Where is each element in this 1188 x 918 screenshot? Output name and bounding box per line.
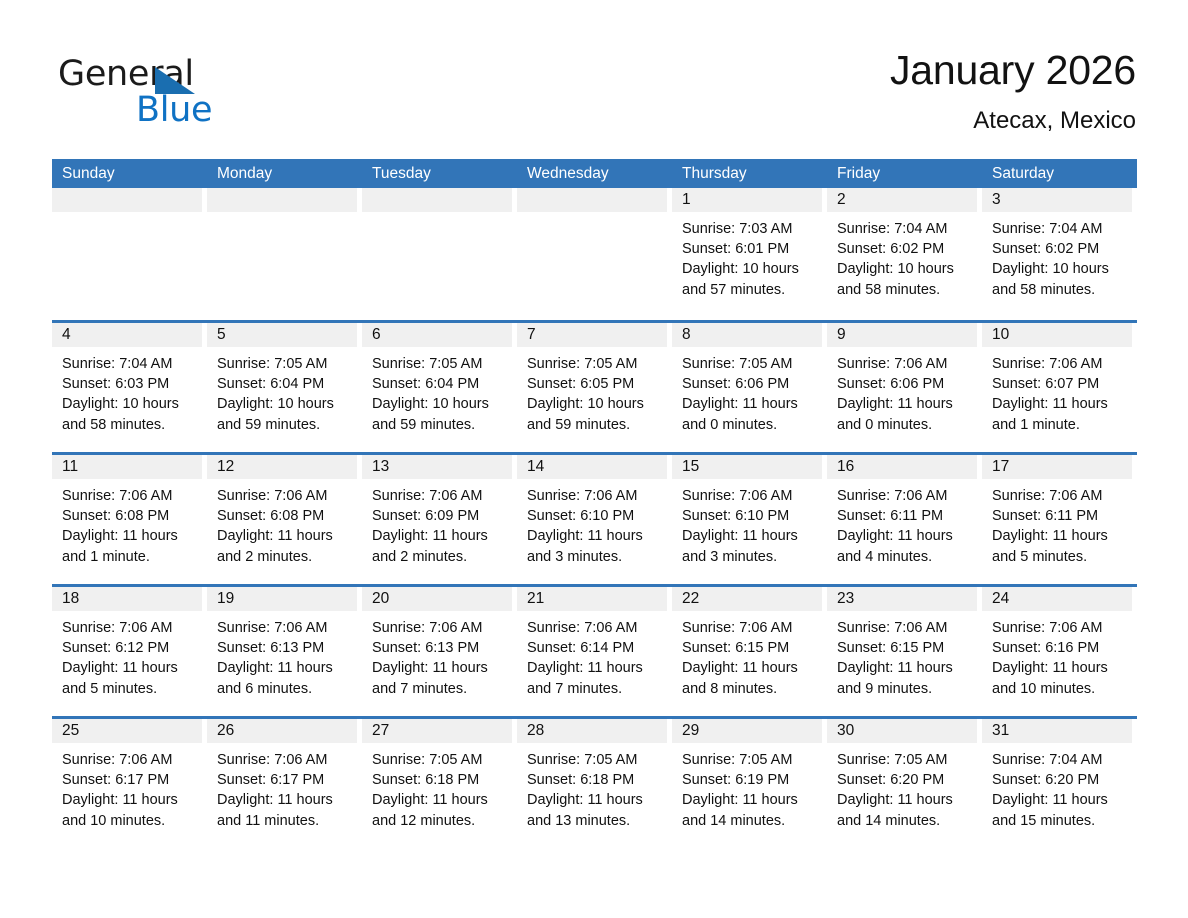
day-details: Sunrise: 7:06 AM Sunset: 6:13 PM Dayligh… (207, 611, 357, 699)
day-number (362, 188, 512, 212)
sunrise-text: Sunrise: 7:06 AM (62, 750, 198, 770)
day-details: Sunrise: 7:04 AM Sunset: 6:20 PM Dayligh… (982, 743, 1132, 831)
daylight-text-line1: Daylight: 11 hours (527, 658, 663, 678)
daylight-text-line1: Daylight: 11 hours (992, 394, 1128, 414)
sunset-text: Sunset: 6:16 PM (992, 638, 1128, 658)
calendar-page: General Blue January 2026 Atecax, Mexico… (0, 0, 1188, 918)
generalblue-logo: General Blue (58, 54, 268, 132)
title-block: January 2026 Atecax, Mexico (890, 44, 1136, 138)
day-cell[interactable]: 27 Sunrise: 7:05 AM Sunset: 6:18 PM Dayl… (362, 719, 517, 848)
day-details: Sunrise: 7:05 AM Sunset: 6:18 PM Dayligh… (362, 743, 512, 831)
daylight-text-line2: and 14 minutes. (837, 811, 973, 831)
sunrise-text: Sunrise: 7:05 AM (527, 750, 663, 770)
day-number: 1 (672, 188, 822, 212)
daylight-text-line2: and 10 minutes. (992, 679, 1128, 699)
day-cell[interactable]: 5 Sunrise: 7:05 AM Sunset: 6:04 PM Dayli… (207, 323, 362, 452)
sunrise-text: Sunrise: 7:04 AM (837, 219, 973, 239)
day-cell[interactable]: 14 Sunrise: 7:06 AM Sunset: 6:10 PM Dayl… (517, 455, 672, 584)
day-number: 16 (827, 455, 977, 479)
day-number (517, 188, 667, 212)
daylight-text-line1: Daylight: 10 hours (837, 259, 973, 279)
logo-text-blue: Blue (136, 90, 212, 130)
daylight-text-line2: and 14 minutes. (682, 811, 818, 831)
day-cell[interactable]: 30 Sunrise: 7:05 AM Sunset: 6:20 PM Dayl… (827, 719, 982, 848)
day-cell[interactable] (362, 188, 517, 320)
day-details: Sunrise: 7:06 AM Sunset: 6:15 PM Dayligh… (672, 611, 822, 699)
sunrise-text: Sunrise: 7:05 AM (682, 354, 818, 374)
daylight-text-line2: and 7 minutes. (527, 679, 663, 699)
day-number: 20 (362, 587, 512, 611)
day-details: Sunrise: 7:06 AM Sunset: 6:09 PM Dayligh… (362, 479, 512, 567)
day-cell[interactable]: 29 Sunrise: 7:05 AM Sunset: 6:19 PM Dayl… (672, 719, 827, 848)
daylight-text-line1: Daylight: 11 hours (682, 790, 818, 810)
sunset-text: Sunset: 6:09 PM (372, 506, 508, 526)
day-number: 30 (827, 719, 977, 743)
sunset-text: Sunset: 6:06 PM (682, 374, 818, 394)
day-details: Sunrise: 7:06 AM Sunset: 6:14 PM Dayligh… (517, 611, 667, 699)
day-details: Sunrise: 7:03 AM Sunset: 6:01 PM Dayligh… (672, 212, 822, 300)
day-number: 23 (827, 587, 977, 611)
day-details: Sunrise: 7:05 AM Sunset: 6:18 PM Dayligh… (517, 743, 667, 831)
day-cell[interactable] (207, 188, 362, 320)
daylight-text-line2: and 15 minutes. (992, 811, 1128, 831)
day-details: Sunrise: 7:06 AM Sunset: 6:11 PM Dayligh… (827, 479, 977, 567)
sunrise-text: Sunrise: 7:06 AM (682, 618, 818, 638)
day-number: 10 (982, 323, 1132, 347)
day-number: 13 (362, 455, 512, 479)
sunrise-text: Sunrise: 7:06 AM (837, 486, 973, 506)
sunrise-text: Sunrise: 7:06 AM (372, 486, 508, 506)
day-cell[interactable]: 16 Sunrise: 7:06 AM Sunset: 6:11 PM Dayl… (827, 455, 982, 584)
daylight-text-line2: and 6 minutes. (217, 679, 353, 699)
sunrise-text: Sunrise: 7:06 AM (682, 486, 818, 506)
sunset-text: Sunset: 6:15 PM (682, 638, 818, 658)
day-number: 5 (207, 323, 357, 347)
weekday-header-thursday: Thursday (672, 159, 827, 188)
sunset-text: Sunset: 6:13 PM (372, 638, 508, 658)
weekday-header-sunday: Sunday (52, 159, 207, 188)
day-cell[interactable]: 8 Sunrise: 7:05 AM Sunset: 6:06 PM Dayli… (672, 323, 827, 452)
sunrise-text: Sunrise: 7:05 AM (682, 750, 818, 770)
day-cell[interactable]: 18 Sunrise: 7:06 AM Sunset: 6:12 PM Dayl… (52, 587, 207, 716)
weekday-header-monday: Monday (207, 159, 362, 188)
sunset-text: Sunset: 6:17 PM (62, 770, 198, 790)
weekday-header-friday: Friday (827, 159, 982, 188)
sunset-text: Sunset: 6:12 PM (62, 638, 198, 658)
daylight-text-line2: and 13 minutes. (527, 811, 663, 831)
day-details: Sunrise: 7:06 AM Sunset: 6:17 PM Dayligh… (207, 743, 357, 831)
sunset-text: Sunset: 6:02 PM (837, 239, 973, 259)
day-details: Sunrise: 7:05 AM Sunset: 6:20 PM Dayligh… (827, 743, 977, 831)
week-row: 1 Sunrise: 7:03 AM Sunset: 6:01 PM Dayli… (52, 188, 1137, 320)
daylight-text-line2: and 9 minutes. (837, 679, 973, 699)
sunset-text: Sunset: 6:14 PM (527, 638, 663, 658)
day-cell[interactable]: 3 Sunrise: 7:04 AM Sunset: 6:02 PM Dayli… (982, 188, 1137, 320)
day-cell[interactable]: 19 Sunrise: 7:06 AM Sunset: 6:13 PM Dayl… (207, 587, 362, 716)
calendar-grid: Sunday Monday Tuesday Wednesday Thursday… (52, 159, 1137, 848)
daylight-text-line1: Daylight: 11 hours (217, 658, 353, 678)
weekday-header-saturday: Saturday (982, 159, 1137, 188)
day-cell[interactable]: 2 Sunrise: 7:04 AM Sunset: 6:02 PM Dayli… (827, 188, 982, 320)
daylight-text-line1: Daylight: 11 hours (837, 394, 973, 414)
day-number: 4 (52, 323, 202, 347)
daylight-text-line2: and 5 minutes. (992, 547, 1128, 567)
day-number: 12 (207, 455, 357, 479)
daylight-text-line1: Daylight: 11 hours (217, 526, 353, 546)
sunrise-text: Sunrise: 7:06 AM (992, 618, 1128, 638)
daylight-text-line1: Daylight: 10 hours (217, 394, 353, 414)
sunset-text: Sunset: 6:07 PM (992, 374, 1128, 394)
day-cell[interactable]: 17 Sunrise: 7:06 AM Sunset: 6:11 PM Dayl… (982, 455, 1137, 584)
daylight-text-line2: and 2 minutes. (372, 547, 508, 567)
sunset-text: Sunset: 6:19 PM (682, 770, 818, 790)
day-number: 15 (672, 455, 822, 479)
day-number: 11 (52, 455, 202, 479)
week-row: 18 Sunrise: 7:06 AM Sunset: 6:12 PM Dayl… (52, 584, 1137, 716)
day-number: 17 (982, 455, 1132, 479)
daylight-text-line1: Daylight: 10 hours (372, 394, 508, 414)
sunrise-text: Sunrise: 7:06 AM (992, 486, 1128, 506)
daylight-text-line2: and 3 minutes. (682, 547, 818, 567)
day-cell[interactable]: 15 Sunrise: 7:06 AM Sunset: 6:10 PM Dayl… (672, 455, 827, 584)
daylight-text-line2: and 57 minutes. (682, 280, 818, 300)
day-cell[interactable]: 13 Sunrise: 7:06 AM Sunset: 6:09 PM Dayl… (362, 455, 517, 584)
weekday-header-tuesday: Tuesday (362, 159, 517, 188)
day-details: Sunrise: 7:06 AM Sunset: 6:15 PM Dayligh… (827, 611, 977, 699)
day-number: 14 (517, 455, 667, 479)
daylight-text-line2: and 8 minutes. (682, 679, 818, 699)
day-number: 7 (517, 323, 667, 347)
day-cell[interactable]: 26 Sunrise: 7:06 AM Sunset: 6:17 PM Dayl… (207, 719, 362, 848)
day-cell[interactable]: 23 Sunrise: 7:06 AM Sunset: 6:15 PM Dayl… (827, 587, 982, 716)
daylight-text-line1: Daylight: 11 hours (992, 790, 1128, 810)
sunrise-text: Sunrise: 7:05 AM (372, 354, 508, 374)
day-details: Sunrise: 7:06 AM Sunset: 6:13 PM Dayligh… (362, 611, 512, 699)
day-details: Sunrise: 7:05 AM Sunset: 6:19 PM Dayligh… (672, 743, 822, 831)
daylight-text-line2: and 2 minutes. (217, 547, 353, 567)
day-cell[interactable]: 12 Sunrise: 7:06 AM Sunset: 6:08 PM Dayl… (207, 455, 362, 584)
sunrise-text: Sunrise: 7:06 AM (217, 750, 353, 770)
day-cell[interactable]: 21 Sunrise: 7:06 AM Sunset: 6:14 PM Dayl… (517, 587, 672, 716)
day-details: Sunrise: 7:06 AM Sunset: 6:07 PM Dayligh… (982, 347, 1132, 435)
sunset-text: Sunset: 6:20 PM (992, 770, 1128, 790)
day-details: Sunrise: 7:06 AM Sunset: 6:08 PM Dayligh… (207, 479, 357, 567)
sunrise-text: Sunrise: 7:04 AM (992, 219, 1128, 239)
day-number (52, 188, 202, 212)
sunrise-text: Sunrise: 7:06 AM (217, 486, 353, 506)
daylight-text-line1: Daylight: 11 hours (837, 526, 973, 546)
daylight-text-line1: Daylight: 11 hours (682, 526, 818, 546)
daylight-text-line1: Daylight: 11 hours (992, 658, 1128, 678)
day-details: Sunrise: 7:05 AM Sunset: 6:06 PM Dayligh… (672, 347, 822, 435)
daylight-text-line1: Daylight: 11 hours (217, 790, 353, 810)
daylight-text-line1: Daylight: 10 hours (62, 394, 198, 414)
day-number: 27 (362, 719, 512, 743)
daylight-text-line1: Daylight: 11 hours (62, 526, 198, 546)
daylight-text-line2: and 58 minutes. (62, 415, 198, 435)
sunset-text: Sunset: 6:01 PM (682, 239, 818, 259)
day-number: 2 (827, 188, 977, 212)
sunrise-text: Sunrise: 7:06 AM (992, 354, 1128, 374)
day-cell[interactable]: 25 Sunrise: 7:06 AM Sunset: 6:17 PM Dayl… (52, 719, 207, 848)
day-number: 24 (982, 587, 1132, 611)
sunset-text: Sunset: 6:18 PM (372, 770, 508, 790)
sunset-text: Sunset: 6:06 PM (837, 374, 973, 394)
daylight-text-line2: and 59 minutes. (217, 415, 353, 435)
day-number: 21 (517, 587, 667, 611)
day-number: 6 (362, 323, 512, 347)
day-details: Sunrise: 7:04 AM Sunset: 6:03 PM Dayligh… (52, 347, 202, 435)
sunset-text: Sunset: 6:11 PM (837, 506, 973, 526)
daylight-text-line1: Daylight: 11 hours (992, 526, 1128, 546)
day-details: Sunrise: 7:06 AM Sunset: 6:17 PM Dayligh… (52, 743, 202, 831)
weekday-header-wednesday: Wednesday (517, 159, 672, 188)
day-cell[interactable] (517, 188, 672, 320)
sunrise-text: Sunrise: 7:06 AM (527, 486, 663, 506)
day-cell[interactable]: 4 Sunrise: 7:04 AM Sunset: 6:03 PM Dayli… (52, 323, 207, 452)
day-details: Sunrise: 7:06 AM Sunset: 6:06 PM Dayligh… (827, 347, 977, 435)
daylight-text-line1: Daylight: 11 hours (837, 790, 973, 810)
sunset-text: Sunset: 6:08 PM (62, 506, 198, 526)
day-number: 8 (672, 323, 822, 347)
day-cell[interactable]: 31 Sunrise: 7:04 AM Sunset: 6:20 PM Dayl… (982, 719, 1137, 848)
daylight-text-line1: Daylight: 11 hours (682, 394, 818, 414)
sunrise-text: Sunrise: 7:06 AM (372, 618, 508, 638)
sunrise-text: Sunrise: 7:06 AM (837, 618, 973, 638)
day-number: 18 (52, 587, 202, 611)
weekday-header-row: Sunday Monday Tuesday Wednesday Thursday… (52, 159, 1137, 188)
daylight-text-line2: and 58 minutes. (992, 280, 1128, 300)
sunset-text: Sunset: 6:08 PM (217, 506, 353, 526)
daylight-text-line1: Daylight: 10 hours (992, 259, 1128, 279)
day-cell[interactable]: 28 Sunrise: 7:05 AM Sunset: 6:18 PM Dayl… (517, 719, 672, 848)
day-cell[interactable]: 20 Sunrise: 7:06 AM Sunset: 6:13 PM Dayl… (362, 587, 517, 716)
sunset-text: Sunset: 6:18 PM (527, 770, 663, 790)
sunset-text: Sunset: 6:03 PM (62, 374, 198, 394)
day-details: Sunrise: 7:06 AM Sunset: 6:11 PM Dayligh… (982, 479, 1132, 567)
daylight-text-line1: Daylight: 11 hours (62, 790, 198, 810)
sunset-text: Sunset: 6:20 PM (837, 770, 973, 790)
sunset-text: Sunset: 6:05 PM (527, 374, 663, 394)
day-cell[interactable]: 9 Sunrise: 7:06 AM Sunset: 6:06 PM Dayli… (827, 323, 982, 452)
sunrise-text: Sunrise: 7:05 AM (372, 750, 508, 770)
daylight-text-line2: and 58 minutes. (837, 280, 973, 300)
daylight-text-line2: and 0 minutes. (682, 415, 818, 435)
daylight-text-line2: and 3 minutes. (527, 547, 663, 567)
daylight-text-line2: and 12 minutes. (372, 811, 508, 831)
sunset-text: Sunset: 6:10 PM (527, 506, 663, 526)
day-details: Sunrise: 7:06 AM Sunset: 6:16 PM Dayligh… (982, 611, 1132, 699)
daylight-text-line2: and 0 minutes. (837, 415, 973, 435)
sunrise-text: Sunrise: 7:06 AM (527, 618, 663, 638)
sunrise-text: Sunrise: 7:05 AM (217, 354, 353, 374)
daylight-text-line2: and 59 minutes. (527, 415, 663, 435)
day-number: 3 (982, 188, 1132, 212)
day-cell[interactable]: 22 Sunrise: 7:06 AM Sunset: 6:15 PM Dayl… (672, 587, 827, 716)
day-cell[interactable]: 24 Sunrise: 7:06 AM Sunset: 6:16 PM Dayl… (982, 587, 1137, 716)
daylight-text-line2: and 1 minute. (62, 547, 198, 567)
day-number: 29 (672, 719, 822, 743)
sunrise-text: Sunrise: 7:04 AM (62, 354, 198, 374)
sunset-text: Sunset: 6:15 PM (837, 638, 973, 658)
sunrise-text: Sunrise: 7:03 AM (682, 219, 818, 239)
sunrise-text: Sunrise: 7:04 AM (992, 750, 1128, 770)
sunset-text: Sunset: 6:02 PM (992, 239, 1128, 259)
day-cell[interactable]: 1 Sunrise: 7:03 AM Sunset: 6:01 PM Dayli… (672, 188, 827, 320)
sunrise-text: Sunrise: 7:06 AM (62, 618, 198, 638)
day-details: Sunrise: 7:05 AM Sunset: 6:05 PM Dayligh… (517, 347, 667, 435)
daylight-text-line1: Daylight: 10 hours (527, 394, 663, 414)
day-number: 25 (52, 719, 202, 743)
day-number: 22 (672, 587, 822, 611)
day-details: Sunrise: 7:05 AM Sunset: 6:04 PM Dayligh… (362, 347, 512, 435)
day-number: 26 (207, 719, 357, 743)
day-number: 19 (207, 587, 357, 611)
week-row: 25 Sunrise: 7:06 AM Sunset: 6:17 PM Dayl… (52, 716, 1137, 848)
day-cell[interactable] (52, 188, 207, 320)
day-cell[interactable]: 7 Sunrise: 7:05 AM Sunset: 6:05 PM Dayli… (517, 323, 672, 452)
daylight-text-line1: Daylight: 11 hours (372, 526, 508, 546)
sunset-text: Sunset: 6:11 PM (992, 506, 1128, 526)
daylight-text-line2: and 4 minutes. (837, 547, 973, 567)
sunrise-text: Sunrise: 7:05 AM (527, 354, 663, 374)
sunset-text: Sunset: 6:17 PM (217, 770, 353, 790)
week-row: 11 Sunrise: 7:06 AM Sunset: 6:08 PM Dayl… (52, 452, 1137, 584)
page-title: January 2026 (890, 44, 1136, 96)
sunset-text: Sunset: 6:04 PM (217, 374, 353, 394)
day-details: Sunrise: 7:04 AM Sunset: 6:02 PM Dayligh… (827, 212, 977, 300)
day-cell[interactable]: 6 Sunrise: 7:05 AM Sunset: 6:04 PM Dayli… (362, 323, 517, 452)
daylight-text-line2: and 7 minutes. (372, 679, 508, 699)
sunrise-text: Sunrise: 7:05 AM (837, 750, 973, 770)
day-details: Sunrise: 7:06 AM Sunset: 6:10 PM Dayligh… (517, 479, 667, 567)
sunrise-text: Sunrise: 7:06 AM (217, 618, 353, 638)
daylight-text-line1: Daylight: 11 hours (372, 790, 508, 810)
sunset-text: Sunset: 6:10 PM (682, 506, 818, 526)
day-cell[interactable]: 11 Sunrise: 7:06 AM Sunset: 6:08 PM Dayl… (52, 455, 207, 584)
daylight-text-line1: Daylight: 11 hours (372, 658, 508, 678)
daylight-text-line2: and 11 minutes. (217, 811, 353, 831)
daylight-text-line1: Daylight: 11 hours (62, 658, 198, 678)
sunset-text: Sunset: 6:04 PM (372, 374, 508, 394)
page-subtitle-location: Atecax, Mexico (890, 104, 1136, 138)
daylight-text-line2: and 59 minutes. (372, 415, 508, 435)
week-row: 4 Sunrise: 7:04 AM Sunset: 6:03 PM Dayli… (52, 320, 1137, 452)
day-number (207, 188, 357, 212)
daylight-text-line2: and 5 minutes. (62, 679, 198, 699)
day-number: 28 (517, 719, 667, 743)
sunset-text: Sunset: 6:13 PM (217, 638, 353, 658)
daylight-text-line1: Daylight: 11 hours (527, 526, 663, 546)
day-details: Sunrise: 7:06 AM Sunset: 6:08 PM Dayligh… (52, 479, 202, 567)
sunrise-text: Sunrise: 7:06 AM (837, 354, 973, 374)
daylight-text-line1: Daylight: 11 hours (837, 658, 973, 678)
daylight-text-line2: and 10 minutes. (62, 811, 198, 831)
page-header: General Blue January 2026 Atecax, Mexico (52, 44, 1136, 148)
day-number: 9 (827, 323, 977, 347)
day-details: Sunrise: 7:06 AM Sunset: 6:10 PM Dayligh… (672, 479, 822, 567)
day-details: Sunrise: 7:06 AM Sunset: 6:12 PM Dayligh… (52, 611, 202, 699)
daylight-text-line2: and 1 minute. (992, 415, 1128, 435)
day-details: Sunrise: 7:05 AM Sunset: 6:04 PM Dayligh… (207, 347, 357, 435)
daylight-text-line1: Daylight: 10 hours (682, 259, 818, 279)
day-details: Sunrise: 7:04 AM Sunset: 6:02 PM Dayligh… (982, 212, 1132, 300)
sunrise-text: Sunrise: 7:06 AM (62, 486, 198, 506)
daylight-text-line1: Daylight: 11 hours (527, 790, 663, 810)
day-number: 31 (982, 719, 1132, 743)
daylight-text-line1: Daylight: 11 hours (682, 658, 818, 678)
day-cell[interactable]: 10 Sunrise: 7:06 AM Sunset: 6:07 PM Dayl… (982, 323, 1137, 452)
